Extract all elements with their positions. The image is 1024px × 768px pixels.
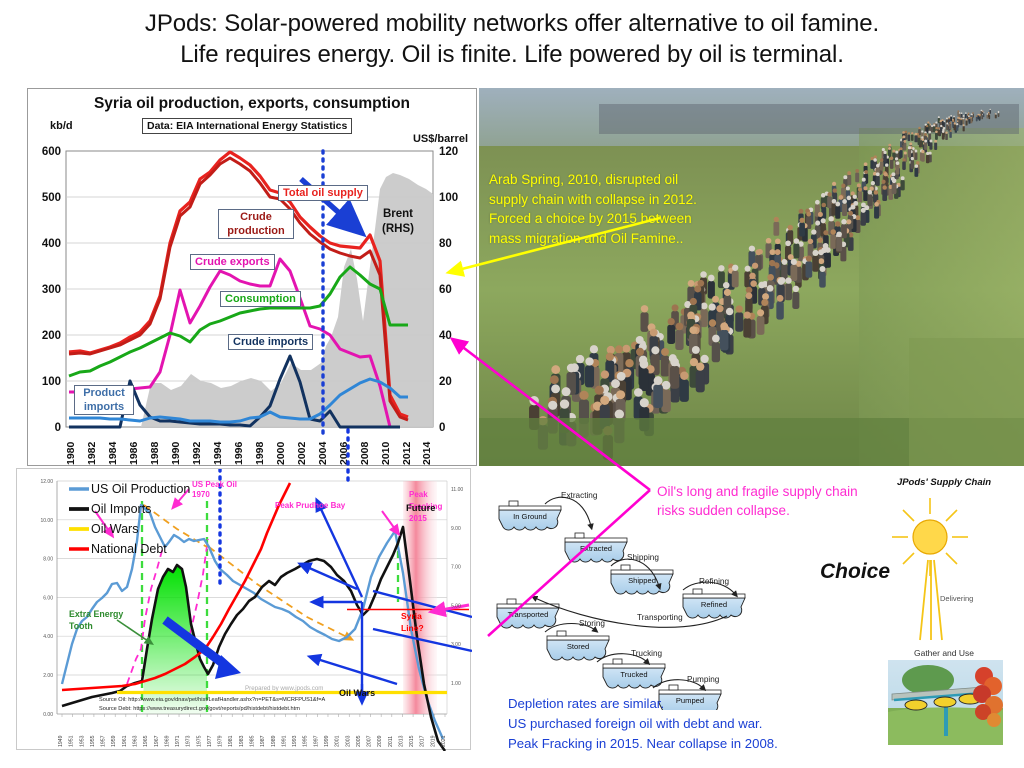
x-tick-label: 1975 <box>196 735 202 747</box>
crowd-person <box>938 116 940 123</box>
crowd-person <box>914 164 918 177</box>
x-tick-label: 1961 <box>122 735 128 747</box>
crowd-person <box>732 265 739 288</box>
chain-node-label: Transported <box>508 610 549 619</box>
svg-text:1998: 1998 <box>254 441 266 465</box>
annotation-oil-wars: Oil Wars <box>339 688 375 698</box>
crowd-person <box>812 250 819 272</box>
annotation-syria-line-1: Syria <box>401 611 422 621</box>
svg-text:0: 0 <box>55 422 61 434</box>
crowd-person <box>835 202 840 219</box>
crowd-person <box>743 311 751 337</box>
x-tick-label: 2019 <box>430 735 436 747</box>
migration-photo: Arab Spring, 2010, disrupted oil supply … <box>479 88 1024 466</box>
crowd-person <box>858 187 862 202</box>
x-tick-label: 2013 <box>398 735 404 747</box>
chain-step-label: Refining <box>699 577 729 586</box>
chain-node-refined: Refined <box>683 589 745 618</box>
chain-node-shipped: Shipped <box>611 565 673 594</box>
crowd-person <box>830 229 836 249</box>
chain-step-label: Storing <box>579 619 605 628</box>
crowd-person <box>902 158 906 170</box>
crowd-person <box>892 179 897 194</box>
crowd-person <box>680 372 689 402</box>
crowd-person <box>950 115 952 121</box>
label-consumption: Consumption <box>220 291 301 307</box>
crowd-person <box>819 266 826 288</box>
svg-text:2008: 2008 <box>359 441 371 465</box>
sunlight-beams-icon <box>920 560 942 640</box>
annotation-us-peak-oil-2: 1970 <box>192 490 210 499</box>
svg-text:1980: 1980 <box>65 441 77 465</box>
crowd-person <box>933 124 935 132</box>
svg-text:9.00: 9.00 <box>451 526 461 532</box>
crowd-person <box>781 259 787 280</box>
photo-caption: Arab Spring, 2010, disrupted oil supply … <box>489 170 719 248</box>
bottom-note-line-0: Depletion rates are similar. <box>508 694 778 714</box>
crowd-person <box>841 219 847 238</box>
svg-text:2006: 2006 <box>338 441 350 465</box>
svg-text:7.00: 7.00 <box>451 565 461 571</box>
crowd-person <box>998 112 1000 117</box>
crowd-person <box>712 335 720 363</box>
svg-text:60: 60 <box>439 284 452 296</box>
annotation-peak-fracking-3: 2015 <box>409 514 427 523</box>
svg-text:8.00: 8.00 <box>43 557 53 563</box>
annotation-prepared-by: Prepared by www.jpods.com <box>245 685 323 692</box>
svg-text:2002: 2002 <box>296 441 308 465</box>
x-tick-label: 1979 <box>218 735 224 747</box>
crowd-person <box>827 192 832 208</box>
x-tick-label: 1973 <box>186 735 192 747</box>
crowd-person <box>966 119 968 126</box>
x-tick-label: 2015 <box>409 735 415 747</box>
x-tick-label: 1971 <box>175 735 181 747</box>
annotation-tooth-1: Extra Energy <box>69 609 123 619</box>
x-tick-label: 1957 <box>101 735 107 747</box>
x-tick-label: 2021 <box>441 735 447 747</box>
x-tick-label: 1959 <box>111 735 117 747</box>
x-tick-label: 1989 <box>271 735 277 747</box>
crowd-person <box>792 286 799 309</box>
crowd-person <box>667 318 675 344</box>
svg-text:2000: 2000 <box>275 441 287 465</box>
jpods-supply-chain-title: JPods' Supply Chain <box>874 477 1014 488</box>
us-oil-debt-chart: US Oil Production Oil Imports Oil Wars N… <box>16 468 471 750</box>
legend-label-3: National Debt <box>91 542 167 556</box>
crowd-person <box>935 130 938 139</box>
x-tick-label: 1981 <box>228 735 234 747</box>
crowd-person <box>903 140 906 150</box>
chain-node-label: Stored <box>567 642 589 651</box>
jpods-photo <box>888 660 1003 745</box>
crowd-person <box>793 238 799 258</box>
crowd-person <box>976 115 978 121</box>
x-tick-label: 1991 <box>281 735 287 747</box>
svg-text:1986: 1986 <box>128 441 140 465</box>
crowd-person <box>934 140 937 150</box>
crowd-person <box>836 231 842 251</box>
svg-text:1.00: 1.00 <box>451 681 461 687</box>
x-tick-label: 1955 <box>90 735 96 747</box>
bottom-note-line-1: US purchased foreign oil with debt and w… <box>508 714 778 734</box>
crowd-person <box>640 305 648 332</box>
svg-text:100: 100 <box>439 192 458 204</box>
svg-text:600: 600 <box>42 146 61 158</box>
crowd-person <box>785 277 792 300</box>
crowd-person <box>962 118 964 125</box>
crowd-person <box>880 158 884 170</box>
syria-oil-chart: Syria oil production, exports, consumpti… <box>27 88 477 466</box>
crowd-person <box>945 131 948 140</box>
crowd-person <box>896 161 900 174</box>
x-tick-label: 2011 <box>388 736 394 747</box>
solar-illustration <box>870 492 1020 642</box>
x-tick-label: 2017 <box>420 735 426 747</box>
crowd-person <box>842 199 847 216</box>
crowd-person <box>954 122 956 130</box>
sun-icon <box>913 520 947 554</box>
x-tick-label: 1985 <box>250 735 256 747</box>
svg-text:12.00: 12.00 <box>40 479 53 485</box>
x-tick-label: 1997 <box>313 735 319 747</box>
svg-text:300: 300 <box>42 284 61 296</box>
crowd-person <box>929 140 932 150</box>
crowd-person <box>979 115 981 121</box>
svg-text:1992: 1992 <box>191 441 203 465</box>
label-total-oil-supply: Total oil supply <box>278 185 368 201</box>
chain-node-in-ground: In Ground <box>499 501 561 530</box>
delivering-label: Delivering <box>940 594 973 603</box>
x-tick-label: 1987 <box>260 735 266 747</box>
crowd-person <box>942 130 945 139</box>
crowd-person <box>863 186 867 201</box>
crowd-person <box>981 110 983 116</box>
crowd-person <box>805 255 812 277</box>
chain-node-extracted: Extracted <box>565 533 627 562</box>
crowd-person <box>989 109 991 114</box>
annotation-peak-prudhoe: Peak Prudhoe Bay <box>275 501 346 510</box>
svg-text:1984: 1984 <box>107 441 119 465</box>
crowd-person <box>661 348 670 377</box>
x-tick-label: 1999 <box>324 735 330 747</box>
svg-text:2.00: 2.00 <box>43 673 53 679</box>
chain-node-stored: Stored <box>547 631 609 660</box>
crowd-person <box>882 185 887 201</box>
x-tick-label: 1983 <box>239 735 245 747</box>
svg-text:400: 400 <box>42 238 61 250</box>
svg-text:3.00: 3.00 <box>451 642 461 648</box>
pod-icon-2 <box>934 697 956 707</box>
svg-text:1982: 1982 <box>86 441 98 465</box>
crowd-person <box>908 132 911 141</box>
x-tick-label: 2009 <box>377 735 383 747</box>
svg-text:40: 40 <box>439 330 452 342</box>
crowd-person <box>808 239 814 258</box>
chain-step-label: Transporting <box>637 613 683 622</box>
crowd-person <box>918 135 921 145</box>
crowd-person <box>910 157 914 169</box>
svg-text:100: 100 <box>42 376 61 388</box>
chain-node-trucked: Trucked <box>603 659 665 688</box>
chain-node-label: Trucked <box>620 670 647 679</box>
chain-step-label: Shipping <box>627 553 659 562</box>
x-tick-label: 1963 <box>133 735 139 747</box>
x-tick-label: 1977 <box>207 735 213 747</box>
svg-text:1990: 1990 <box>170 441 182 465</box>
crowd-person <box>949 130 951 138</box>
x-tick-label: 2001 <box>335 735 341 747</box>
chain-node-label: In Ground <box>513 512 547 521</box>
crowd-person <box>708 275 715 299</box>
crowd-person <box>867 190 872 206</box>
label-crude-production: Crude production <box>218 209 294 239</box>
crowd-person <box>970 117 972 123</box>
label-brent-rhs: Brent (RHS) <box>376 207 420 237</box>
chain-node-label: Shipped <box>628 576 656 585</box>
page-title: JPods: Solar-powered mobility networks o… <box>0 8 1024 70</box>
crowd-person <box>874 202 879 219</box>
x-tick-label: 2007 <box>367 735 373 747</box>
x-tick-label: 1951 <box>69 735 75 747</box>
svg-text:5.00: 5.00 <box>451 603 461 609</box>
svg-text:2012: 2012 <box>401 441 413 465</box>
supply-chain-caption: Oil's long and fragile supply chain risk… <box>657 482 872 520</box>
crowd-person <box>914 133 917 143</box>
svg-text:0.00: 0.00 <box>43 712 53 718</box>
pod-icon-1 <box>905 700 927 710</box>
annotation-source-debt: Source Debt: https://www.treasurydirect.… <box>99 706 300 712</box>
x-tick-label: 1993 <box>292 735 298 747</box>
svg-text:20: 20 <box>439 376 452 388</box>
svg-text:1988: 1988 <box>149 441 161 465</box>
x-tick-label: 1969 <box>164 735 170 747</box>
svg-text:1994: 1994 <box>212 441 224 465</box>
crowd-person <box>696 362 705 392</box>
crowd-person <box>928 131 931 140</box>
crowd-person <box>937 127 940 136</box>
svg-text:120: 120 <box>439 146 458 158</box>
us-oil-plot: US Oil Production Oil Imports Oil Wars N… <box>17 469 472 751</box>
crowd-person <box>670 358 679 389</box>
crowd-person <box>969 117 971 123</box>
svg-text:2010: 2010 <box>380 441 392 465</box>
x-tick-label: 2003 <box>345 735 351 747</box>
svg-text:1996: 1996 <box>233 441 245 465</box>
crowd-person <box>963 124 965 131</box>
crowd-person <box>946 122 948 130</box>
annotation-peak-fracking-1: Peak <box>409 490 428 499</box>
crowd-person <box>790 259 797 281</box>
crowd-person <box>931 125 933 132</box>
crowd-person <box>861 208 866 226</box>
crowd-person <box>735 305 743 331</box>
svg-text:200: 200 <box>42 330 61 342</box>
crowd-person <box>855 169 859 182</box>
crowd-person <box>965 112 967 118</box>
svg-text:80: 80 <box>439 238 452 250</box>
bottom-note-line-2: Peak Fracking in 2015. Near collapse in … <box>508 734 778 754</box>
crowd-person <box>890 157 894 169</box>
x-tick-label: 1967 <box>154 735 160 747</box>
legend-label-1: Oil Imports <box>91 502 151 516</box>
crowd-person <box>989 114 991 119</box>
chain-step-label: Trucking <box>631 649 663 658</box>
svg-text:10.00: 10.00 <box>40 518 53 524</box>
crowd-person <box>757 309 765 335</box>
crowd-person <box>653 376 663 408</box>
crowd-person <box>911 132 914 141</box>
title-line-1: JPods: Solar-powered mobility networks o… <box>0 8 1024 39</box>
crowd-person <box>901 176 905 190</box>
crowd-person <box>799 218 805 237</box>
slide-canvas: JPods: Solar-powered mobility networks o… <box>0 0 1024 768</box>
x-tick-label: 1949 <box>58 735 64 747</box>
gather-and-use-label: Gather and Use <box>874 648 1014 658</box>
svg-text:0: 0 <box>439 422 445 434</box>
legend-label-2: Oil Wars <box>91 522 138 536</box>
svg-text:11.00: 11.00 <box>451 487 463 493</box>
svg-text:2014: 2014 <box>421 441 433 465</box>
svg-text:2004: 2004 <box>317 441 329 465</box>
crowd-person <box>986 113 988 118</box>
crowd-person <box>926 152 929 163</box>
label-product-imports: Product imports <box>74 385 134 415</box>
bottom-notes: Depletion rates are similar. US purchase… <box>508 694 778 754</box>
crowd-person <box>958 117 960 124</box>
crowd-person <box>773 217 779 236</box>
crowd-person <box>639 360 648 391</box>
title-line-2: Life requires energy. Oil is finite. Lif… <box>0 39 1024 70</box>
annotation-source-oil: Source Oil: http://www.eia.gov/dnav/pet/… <box>99 697 325 703</box>
svg-text:500: 500 <box>42 192 61 204</box>
crowd-person <box>847 171 851 185</box>
crowd-person <box>949 122 951 130</box>
crowd-person <box>924 140 927 150</box>
chain-node-label: Refined <box>701 600 727 609</box>
crowd-person <box>821 203 826 219</box>
photo-illustration <box>479 88 1024 466</box>
x-tick-label: 2005 <box>356 735 362 747</box>
label-crude-imports: Crude imports <box>228 334 313 350</box>
crowd-person <box>883 151 886 163</box>
annotation-us-peak-oil-1: US Peak Oil <box>192 480 237 489</box>
crowd-person <box>921 150 925 162</box>
crowd-person <box>675 323 683 350</box>
x-tick-label: 1953 <box>79 735 85 747</box>
x-tick-label: 1995 <box>303 735 309 747</box>
crowd-person <box>961 112 963 118</box>
crowd-person <box>720 322 728 350</box>
x-tick-label: 1965 <box>143 735 149 747</box>
chain-node-label: Extracted <box>580 544 612 553</box>
crowd-person <box>995 113 997 118</box>
legend-label-0: US Oil Production <box>91 482 190 496</box>
chain-step-label: Pumping <box>687 675 720 684</box>
crowd-person <box>876 172 880 186</box>
crowd-person <box>956 123 958 131</box>
chain-node-transported: Transported <box>497 599 559 628</box>
crowd-person <box>776 295 783 320</box>
annotation-future: Future <box>406 503 436 514</box>
svg-text:6.00: 6.00 <box>43 595 53 601</box>
annotation-syria-line-2: Line? <box>401 623 424 633</box>
annotation-tooth-2: Tooth <box>69 621 93 631</box>
crowd-person <box>908 146 911 157</box>
label-crude-exports: Crude exports <box>190 254 275 270</box>
chain-step-label: Extracting <box>561 491 598 500</box>
crowd-person <box>899 147 902 158</box>
svg-text:4.00: 4.00 <box>43 634 53 640</box>
crowd-person <box>585 357 594 387</box>
